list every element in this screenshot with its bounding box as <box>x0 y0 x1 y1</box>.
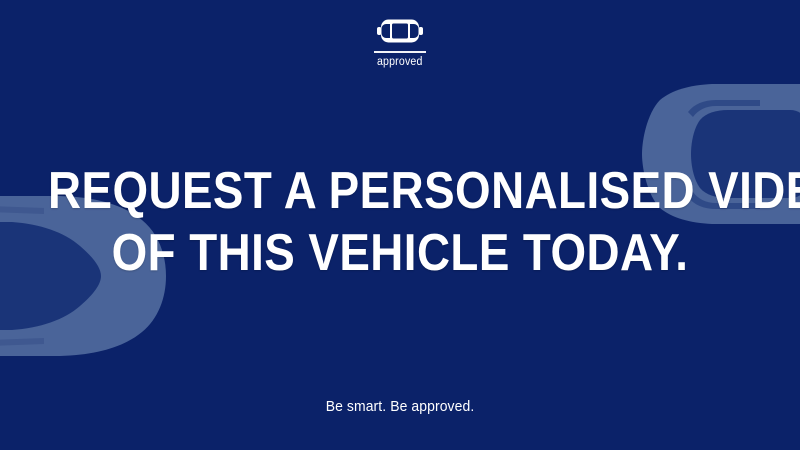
headline-line-2: OF THIS VEHICLE TODAY. <box>48 222 752 284</box>
page-title: REQUEST A PERSONALISED VIDEO OF THIS VEH… <box>0 160 800 284</box>
brand-wordmark: approved <box>377 57 423 69</box>
promo-banner: approved REQUEST A PERSONALISED VIDEO OF… <box>0 0 800 450</box>
headline-line-1: REQUEST A PERSONALISED VIDEO <box>48 160 752 222</box>
top-down-car-icon <box>376 18 424 44</box>
brand-divider <box>374 51 426 53</box>
tagline: Be smart. Be approved. <box>28 398 772 416</box>
brand-lockup: approved <box>0 18 800 69</box>
